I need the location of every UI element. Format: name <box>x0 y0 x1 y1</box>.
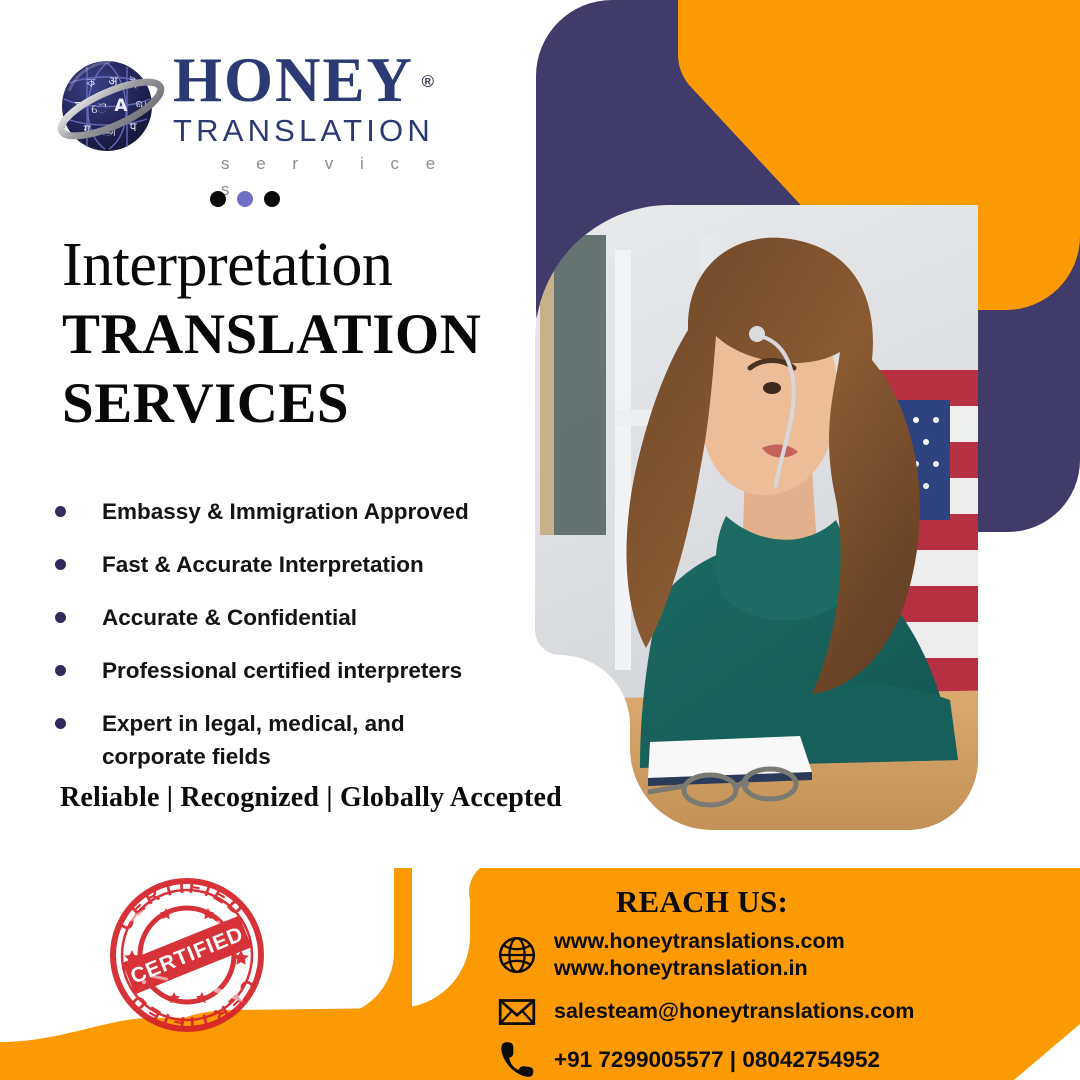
logo-primary-name: HONEY® <box>173 45 414 115</box>
brand-logo[interactable]: ক अ ই ਸ਼ ୈ A வ ग அ प HONEY® TRANSLATION s <box>55 45 475 180</box>
contact-phone-row[interactable]: +91 7299005577 | 08042754952 <box>496 1038 880 1080</box>
reach-us-heading: REACH US: <box>412 884 992 920</box>
contact-website-row[interactable]: www.honeytranslations.com www.honeytrans… <box>496 928 845 982</box>
headline-bold-line-2: SERVICES <box>62 371 532 436</box>
bullet-icon <box>55 612 66 623</box>
feature-label: Accurate & Confidential <box>102 601 357 634</box>
headline-script-line: Interpretation <box>62 232 532 298</box>
page-title: Interpretation TRANSLATION SERVICES <box>62 232 532 436</box>
svg-text:A: A <box>114 96 128 116</box>
dot-1 <box>210 191 226 207</box>
decorative-dots <box>210 191 280 207</box>
list-item: Fast & Accurate Interpretation <box>55 548 545 581</box>
feature-label: Fast & Accurate Interpretation <box>102 548 424 581</box>
dot-2 <box>237 191 253 207</box>
interpreter-photo <box>520 190 1000 850</box>
svg-text:ୈ: ୈ <box>91 102 107 116</box>
website-line-2[interactable]: www.honeytranslation.in <box>554 955 845 982</box>
dot-3 <box>264 191 280 207</box>
bullet-icon <box>55 665 66 676</box>
bullet-icon <box>55 506 66 517</box>
logo-secondary-name: TRANSLATION <box>173 113 473 149</box>
feature-list: Embassy & Immigration Approved Fast & Ac… <box>55 495 545 793</box>
logo-wordmark: HONEY® TRANSLATION s e r v i c e s <box>173 45 473 203</box>
feature-label: Professional certified interpreters <box>102 654 462 687</box>
phone-icon <box>496 1038 538 1080</box>
bullet-icon <box>55 718 66 729</box>
list-item: Embassy & Immigration Approved <box>55 495 545 528</box>
email-address[interactable]: salesteam@honeytranslations.com <box>554 998 914 1025</box>
bullet-icon <box>55 559 66 570</box>
contact-block: REACH US: www.honeytranslations.com www.… <box>412 868 1080 1080</box>
contact-email-row[interactable]: salesteam@honeytranslations.com <box>496 990 914 1032</box>
list-item: Accurate & Confidential <box>55 601 545 634</box>
logo-primary-text: HONEY <box>173 45 414 115</box>
registered-trademark-icon: ® <box>422 47 437 117</box>
list-item: Expert in legal, medical, and corporate … <box>55 707 545 773</box>
feature-label: Expert in legal, medical, and corporate … <box>102 707 462 773</box>
phone-numbers[interactable]: +91 7299005577 | 08042754952 <box>554 1046 880 1073</box>
certified-stamp-icon: CERTIFIED CERTIFIED CERTIFIED <box>104 872 270 1038</box>
svg-text:ক: ক <box>86 76 96 90</box>
list-item: Professional certified interpreters <box>55 654 545 687</box>
website-list: www.honeytranslations.com www.honeytrans… <box>554 928 845 982</box>
envelope-icon <box>496 990 538 1032</box>
website-line-1[interactable]: www.honeytranslations.com <box>554 928 845 955</box>
globe-multilingual-icon: ক अ ই ਸ਼ ୈ A வ ग அ प <box>55 51 167 161</box>
feature-label: Embassy & Immigration Approved <box>102 495 469 528</box>
tagline: Reliable | Recognized | Globally Accepte… <box>60 782 562 814</box>
globe-icon <box>496 934 538 976</box>
poster-canvas: ক अ ই ਸ਼ ୈ A வ ग அ प HONEY® TRANSLATION s <box>0 0 1080 1080</box>
headline-bold-line-1: TRANSLATION <box>62 302 532 367</box>
